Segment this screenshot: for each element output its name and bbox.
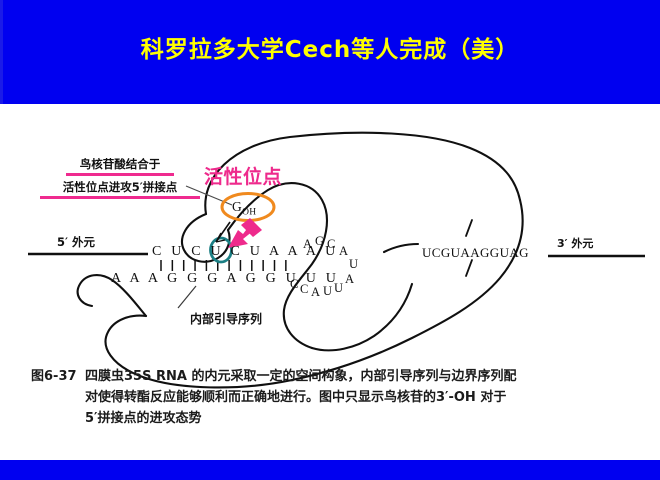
active-site-label: 活性位点 xyxy=(204,162,282,189)
loop-bottom-letter-5: A xyxy=(345,272,354,287)
annotation-line-1: 鸟核苷酸结合于 xyxy=(40,156,200,179)
annotation-line-2-text: 活性位点进攻5′拼接点 xyxy=(63,180,178,194)
caption-figure-number: 图6-37 xyxy=(31,366,85,387)
loop-bottom-letter-2: A xyxy=(311,285,320,300)
annotation-underline-2 xyxy=(40,196,200,199)
slide-canvas: 科罗拉多大学Cech等人完成（美） xyxy=(0,0,660,480)
annotation-line-1-text: 鸟核苷酸结合于 xyxy=(80,157,161,171)
annotation-line-2: 活性位点进攻5′拼接点 xyxy=(40,179,200,202)
guanosine-subscript: OH xyxy=(242,208,256,218)
caption-line-1-text: 四膜虫35S RNA 的内元采取一定的空间构象，内部引导序列与边界序列配 xyxy=(85,369,516,384)
page-title: 科罗拉多大学Cech等人完成（美） xyxy=(0,30,660,64)
internal-guide-leader-line xyxy=(178,286,196,308)
loop-top-letter-2: C xyxy=(327,237,335,252)
loop-top-letter-0: A xyxy=(303,237,312,252)
caption-line-2: 对使得转酯反应能够顺利而正确地进行。图中只显示鸟核苷的3′-OH 对于 xyxy=(0,387,660,408)
caption-line-3: 5′拼接点的进攻态势 xyxy=(0,408,660,429)
loop-top-letter-4: U xyxy=(349,257,358,272)
loop-top-letter-3: A xyxy=(339,244,348,259)
loop-bottom-letter-4: U xyxy=(334,281,343,296)
exon5-label: 5′ 外元 xyxy=(57,234,95,250)
right-strand-sequence: UCGUAAGGUAG xyxy=(422,245,529,261)
loop-top-letter-1: G xyxy=(315,234,324,249)
guanosine-base: G xyxy=(232,199,242,214)
loop-bottom-letter-3: U xyxy=(323,284,332,299)
loop-bottom-letter-0: C xyxy=(290,277,298,292)
loop-bottom-letter-1: C xyxy=(300,282,308,297)
internal-guide-sequence-label: 内部引导序列 xyxy=(190,310,262,327)
caption-line-1: 图6-37四膜虫35S RNA 的内元采取一定的空间构象，内部引导序列与边界序列… xyxy=(0,366,660,387)
annotation-underline-1 xyxy=(66,173,174,176)
bottom-blue-band xyxy=(0,460,660,480)
guanosine-label: GOH xyxy=(232,199,256,218)
exon3-label: 3′ 外元 xyxy=(557,235,593,251)
figure-caption: 图6-37四膜虫35S RNA 的内元采取一定的空间构象，内部引导序列与边界序列… xyxy=(0,366,660,429)
annotation-block: 鸟核苷酸结合于 活性位点进攻5′拼接点 xyxy=(40,156,200,202)
